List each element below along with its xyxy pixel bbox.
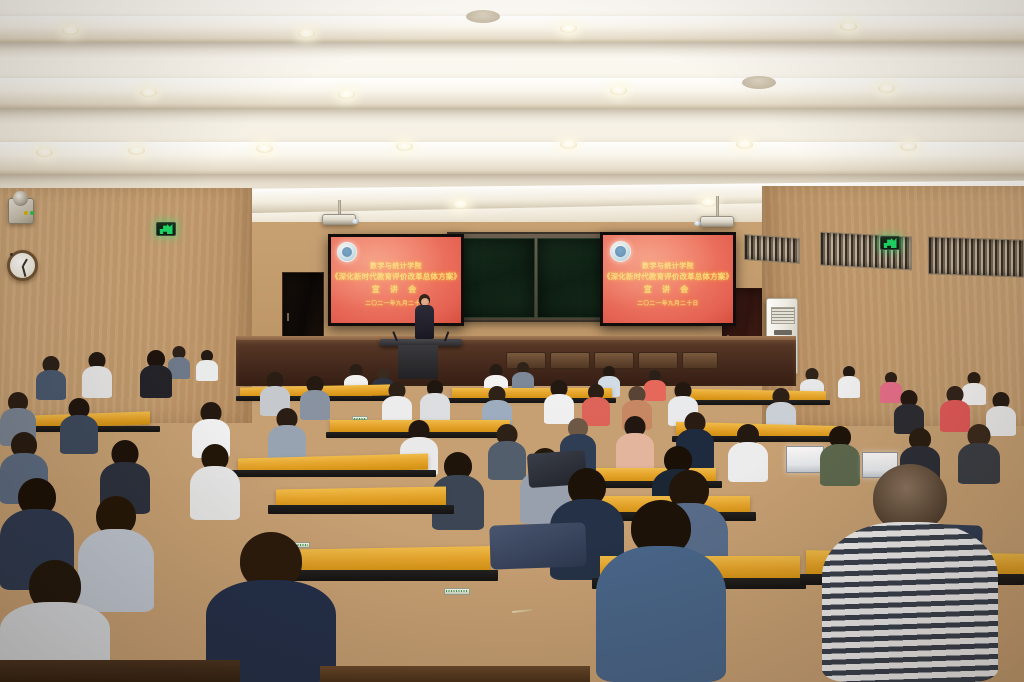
attendee: [268, 408, 306, 464]
ceiling-vent: [742, 76, 776, 89]
ceiling-beam-1: [0, 16, 1024, 42]
ac-control-panel: [774, 330, 792, 335]
screen-document-line: 《深化新时代教育评价改革总体方案》: [331, 273, 461, 281]
pencil-case-stripe: [354, 418, 366, 420]
attendee-torso: [60, 415, 98, 454]
desk-front-panel: [320, 666, 590, 682]
clock-minute-hand: [22, 265, 26, 276]
screen-event-line: 宣 讲 会: [372, 286, 420, 295]
attendee-torso: [140, 365, 172, 398]
desk-edge-rail: [232, 470, 436, 477]
projection-screen-right: 数学与统计学院 《深化新时代教育评价改革总体方案》 宣 讲 会 二〇二一年九月二…: [600, 232, 736, 326]
downlight-icon: [878, 84, 895, 93]
exit-running-man-icon: [160, 224, 173, 234]
screen-surface: 数学与统计学院 《深化新时代教育评价改革总体方案》 宣 讲 会 二〇二一年九月二…: [331, 237, 461, 323]
downlight-icon: [128, 146, 145, 155]
attendee: [82, 352, 112, 398]
university-emblem-icon: [610, 241, 631, 262]
downlight-icon: [452, 200, 469, 209]
pencil-case: [444, 588, 470, 595]
ac-vent-grille: [771, 307, 795, 324]
front-bench-seat: [550, 352, 590, 369]
exit-running-man-icon: [884, 238, 897, 248]
ceiling-vent: [466, 10, 500, 23]
attendee: [36, 356, 66, 400]
ceiling-beam-3: [0, 142, 1024, 174]
downlight-icon: [256, 144, 273, 153]
projector-lens: [694, 221, 701, 226]
front-bench-seat: [682, 352, 718, 369]
screen-title-line: 数学与统计学院: [642, 263, 694, 271]
attendee: [838, 366, 860, 398]
ceiling-shadow-1: [0, 42, 1024, 58]
attendee-foreground: [596, 500, 726, 682]
downlight-icon: [900, 142, 917, 151]
attendee-torso: [190, 466, 240, 520]
lectern-body: [398, 345, 438, 379]
attendee-striped-shirt: [822, 464, 998, 682]
attendee: [140, 350, 172, 398]
folded-jacket: [489, 522, 586, 569]
wall-grille: [928, 236, 1024, 277]
screen-document-line: 《深化新时代教育评价改革总体方案》: [603, 273, 733, 281]
downlight-icon: [36, 148, 53, 157]
presenter-torso: [415, 305, 434, 339]
attendee: [728, 424, 768, 482]
presenter: [415, 294, 434, 342]
ceiling-projector-left: [322, 214, 356, 225]
desk-edge-rail: [268, 505, 454, 514]
indicator-led: [30, 211, 34, 215]
attendee: [616, 416, 654, 472]
attendee: [60, 398, 98, 454]
downlight-icon: [560, 140, 577, 149]
downlight-icon: [840, 22, 857, 31]
university-emblem-icon: [337, 242, 357, 262]
downlight-icon: [298, 29, 315, 38]
downlight-icon: [62, 26, 79, 35]
screen-date-line: 二〇二一年九月二十日: [637, 301, 699, 307]
downlight-icon: [338, 90, 355, 99]
projector-mount-pole: [716, 196, 719, 218]
clock-hour-hand: [22, 258, 28, 266]
pencil-case: [352, 416, 368, 420]
downlight-icon: [700, 198, 717, 207]
emblem-inner: [342, 247, 352, 257]
ceiling-shadow-2: [0, 108, 1024, 124]
attendee: [190, 444, 240, 520]
attendee: [196, 350, 218, 380]
attendee-torso: [196, 360, 218, 381]
wall-grille: [744, 234, 800, 264]
ceiling-projector-right: [700, 216, 734, 227]
front-bench-seat: [638, 352, 678, 369]
projector-lens: [352, 219, 359, 224]
pencil-case-stripe: [446, 590, 468, 592]
blackboard-panel: [453, 238, 535, 318]
attendee: [420, 380, 450, 424]
clock-center-pin: [10, 253, 13, 256]
projection-screen-left: 数学与统计学院 《深化新时代教育评价改革总体方案》 宣 讲 会 二〇二一年九月二…: [328, 234, 464, 326]
indicator-led: [24, 211, 28, 215]
attendee-torso: [838, 376, 860, 398]
floor-aisle: [0, 660, 240, 682]
downlight-icon: [140, 88, 157, 97]
screen-event-line: 宣 讲 会: [644, 286, 692, 295]
downlight-icon: [610, 86, 627, 95]
exit-sign-right: [880, 236, 900, 250]
downlight-icon: [396, 142, 413, 151]
lecture-hall-photo: 数学与统计学院 《深化新时代教育评价改革总体方案》 宣 讲 会 二〇二一年九月二…: [0, 0, 1024, 682]
security-camera-icon: [13, 191, 28, 206]
attendee-torso: [616, 433, 654, 472]
laptop-screen[interactable]: [786, 446, 824, 473]
downlight-icon: [560, 24, 577, 33]
wall-clock: [7, 250, 38, 281]
attendee-torso-striped: [822, 522, 998, 682]
downlight-icon: [736, 140, 753, 149]
attendee-torso: [596, 546, 726, 682]
door-handle: [287, 313, 289, 321]
pen: [512, 609, 532, 613]
screen-title-line: 数学与统计学院: [370, 263, 422, 271]
emblem-inner: [615, 246, 626, 257]
screen-surface: 数学与统计学院 《深化新时代教育评价改革总体方案》 宣 讲 会 二〇二一年九月二…: [603, 235, 733, 323]
attendee-torso: [36, 370, 66, 400]
attendee-torso: [728, 442, 768, 482]
exit-sign-left: [156, 222, 176, 236]
attendee-torso: [82, 366, 112, 398]
